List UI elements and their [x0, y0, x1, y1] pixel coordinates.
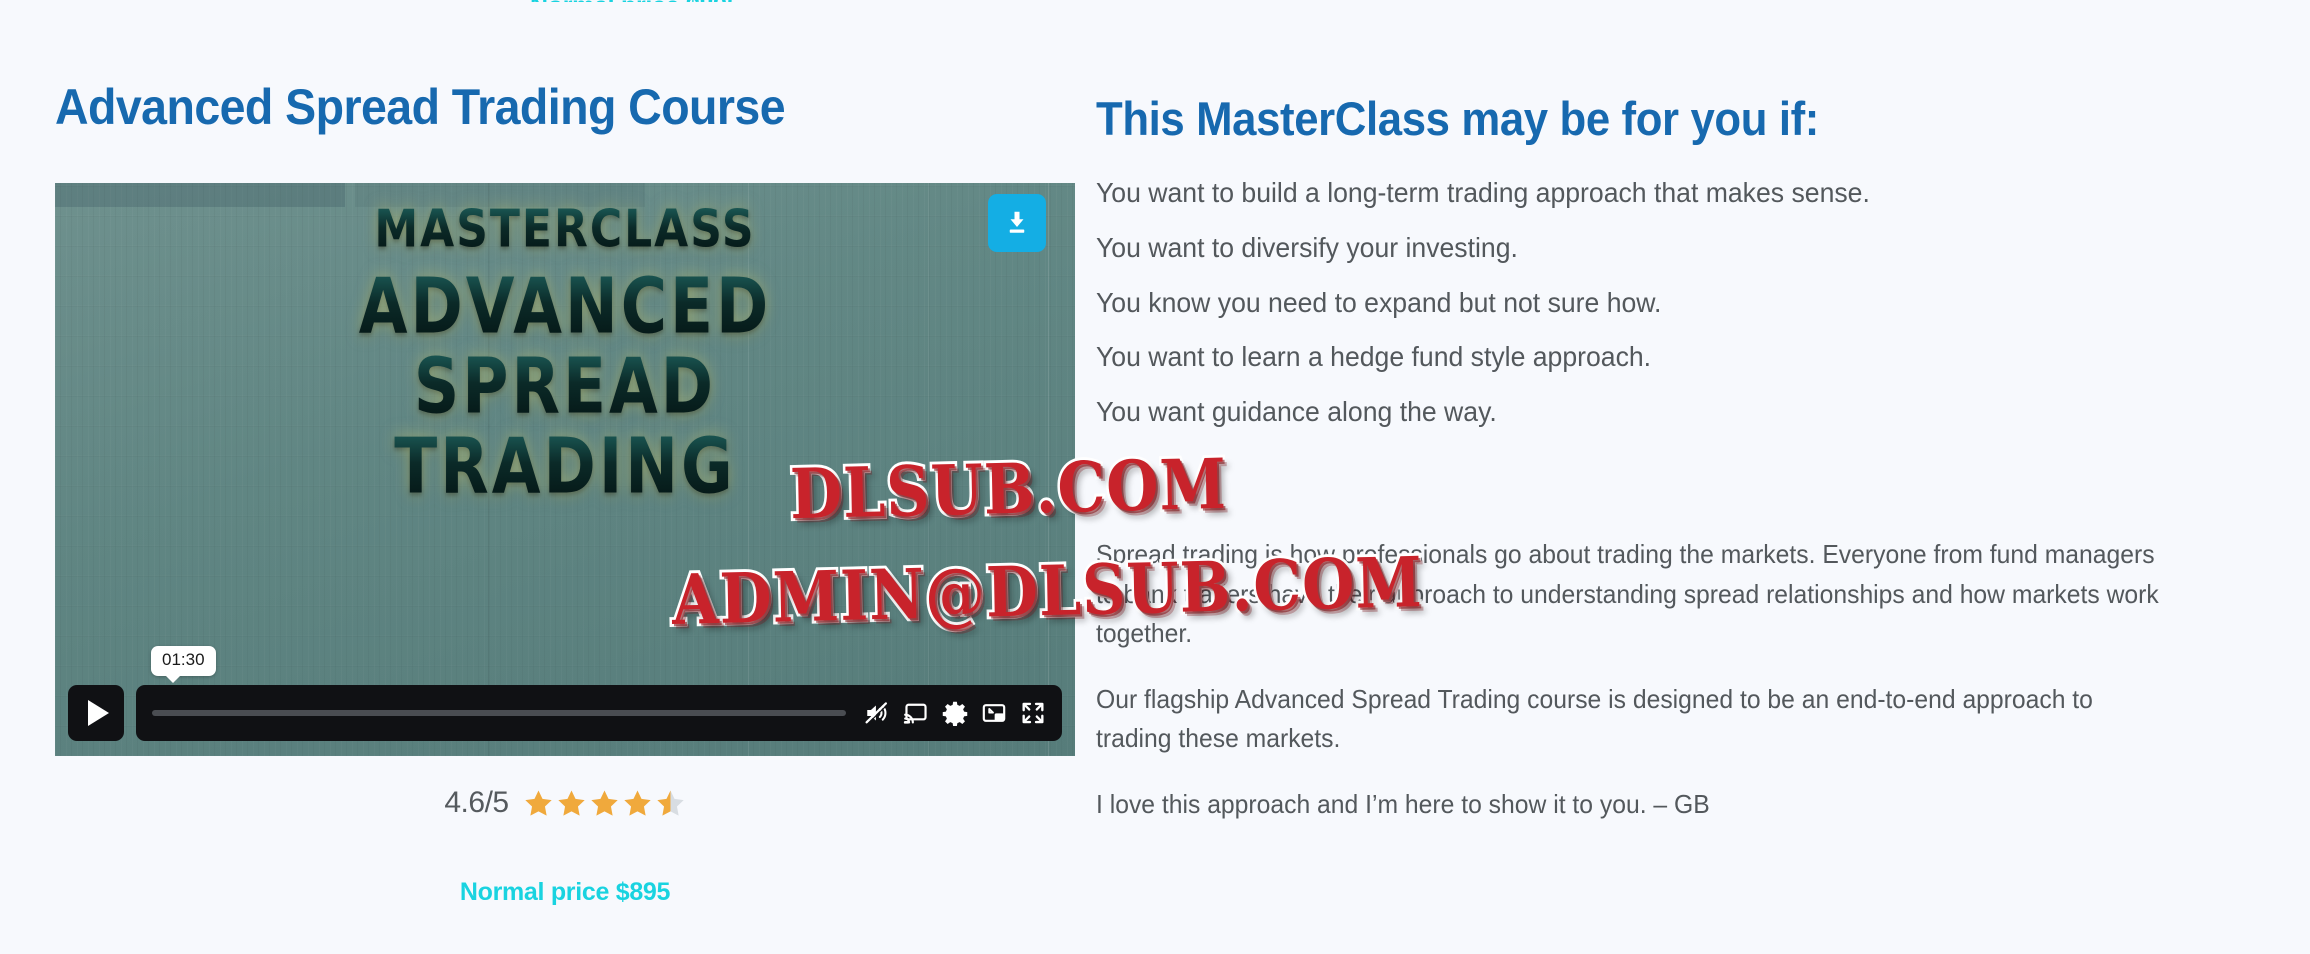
- video-player[interactable]: MasterClass Advanced Spread Trading 01:3…: [55, 183, 1075, 756]
- star-filled-icon: [589, 788, 620, 819]
- video-control-bar: [136, 685, 1062, 741]
- description-paragraphs: Spread trading is how professionals go a…: [1096, 535, 2221, 850]
- paragraph: Spread trading is how professionals go a…: [1096, 535, 2165, 654]
- star-filled-icon: [622, 788, 653, 819]
- play-button[interactable]: [68, 685, 124, 741]
- paragraph: Our flagship Advanced Spread Trading cou…: [1096, 680, 2165, 759]
- star-rating: [523, 788, 686, 819]
- page-root: Normal price $895 Advanced Spread Tradin…: [0, 0, 2310, 954]
- list-item: You want to diversify your investing.: [1096, 233, 2198, 264]
- star-half-icon: [655, 788, 686, 819]
- picture-in-picture-icon[interactable]: [981, 700, 1007, 726]
- video-time-tooltip: 01:30: [151, 646, 216, 676]
- masterclass-heading: This MasterClass may be for you if:: [1096, 95, 1819, 142]
- list-item: You want to learn a hedge fund style app…: [1096, 342, 2198, 373]
- fullscreen-icon[interactable]: [1020, 700, 1046, 726]
- star-filled-icon: [523, 788, 554, 819]
- progress-bar[interactable]: [152, 710, 846, 716]
- list-item: You want to build a long-term trading ap…: [1096, 178, 2198, 209]
- rating-score: 4.6/5: [444, 786, 508, 820]
- price-label: Normal price $895: [55, 878, 1075, 907]
- download-button[interactable]: [988, 194, 1046, 252]
- course-title: Advanced Spread Trading Course: [55, 82, 785, 132]
- settings-gear-icon[interactable]: [942, 700, 968, 726]
- star-filled-icon: [556, 788, 587, 819]
- video-control-icons: [864, 700, 1046, 726]
- download-icon: [1002, 208, 1032, 238]
- top-cutoff-fragment: Normal price $895: [530, 0, 740, 2]
- volume-muted-icon[interactable]: [864, 700, 890, 726]
- cast-icon[interactable]: [903, 700, 929, 726]
- rating-row: 4.6/5: [55, 786, 1075, 820]
- play-icon: [88, 700, 109, 726]
- paragraph: I love this approach and I’m here to sho…: [1096, 785, 2165, 825]
- list-item: You want guidance along the way.: [1096, 397, 2198, 428]
- bullet-list: You want to build a long-term trading ap…: [1096, 178, 2256, 452]
- list-item: You know you need to expand but not sure…: [1096, 288, 2198, 319]
